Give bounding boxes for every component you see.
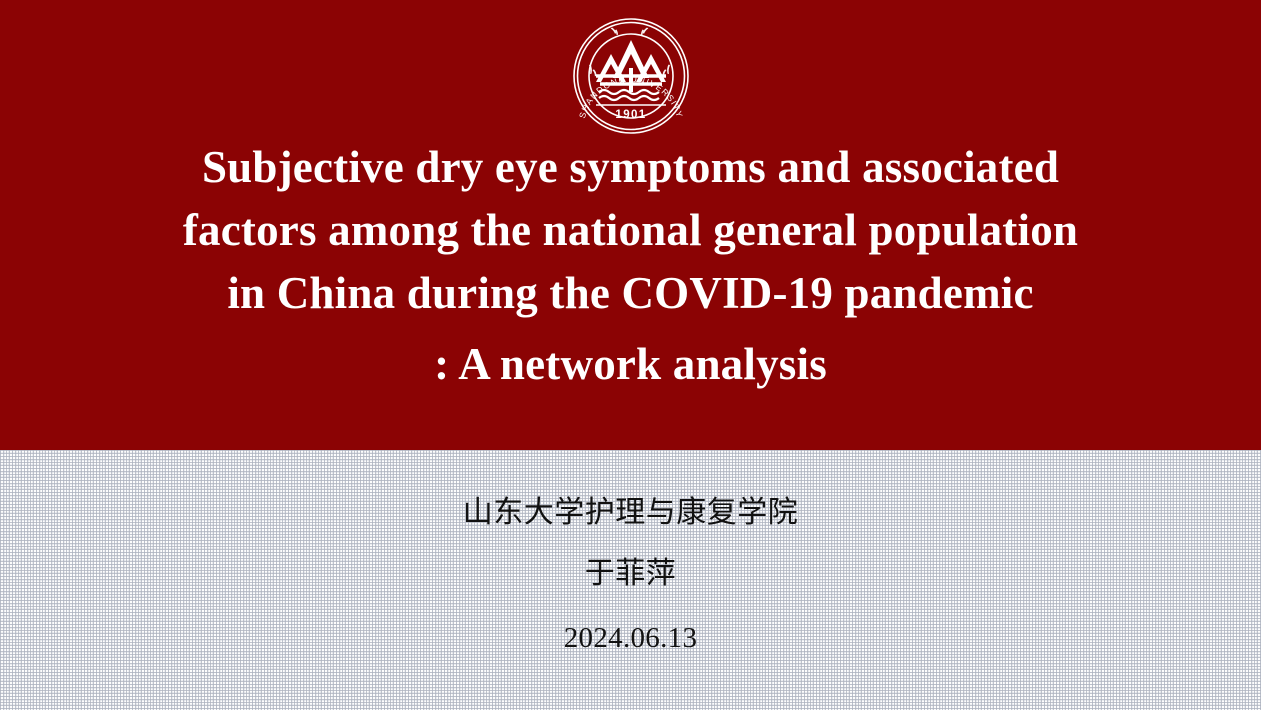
presenter-name: 于菲萍 bbox=[0, 555, 1261, 593]
title-line-4: : A network analysis bbox=[55, 333, 1206, 396]
presentation-date: 2024.06.13 bbox=[0, 621, 1261, 655]
title-line-3: in China during the COVID-19 pandemic bbox=[55, 262, 1206, 325]
presenter-info: 山东大学护理与康复学院 于菲萍 2024.06.13 bbox=[0, 494, 1261, 655]
presentation-title-slide: 1901 SHANDONG UNIVERSITY Subjective bbox=[0, 0, 1261, 710]
title-line-1: Subjective dry eye symptoms and associat… bbox=[55, 136, 1206, 199]
shandong-university-logo-icon: 1901 SHANDONG UNIVERSITY bbox=[571, 16, 691, 136]
title-line-2: factors among the national general popul… bbox=[55, 199, 1206, 262]
affiliation-text: 山东大学护理与康复学院 bbox=[0, 494, 1261, 532]
svg-text:1901: 1901 bbox=[615, 109, 646, 121]
page-title: Subjective dry eye symptoms and associat… bbox=[0, 136, 1261, 396]
